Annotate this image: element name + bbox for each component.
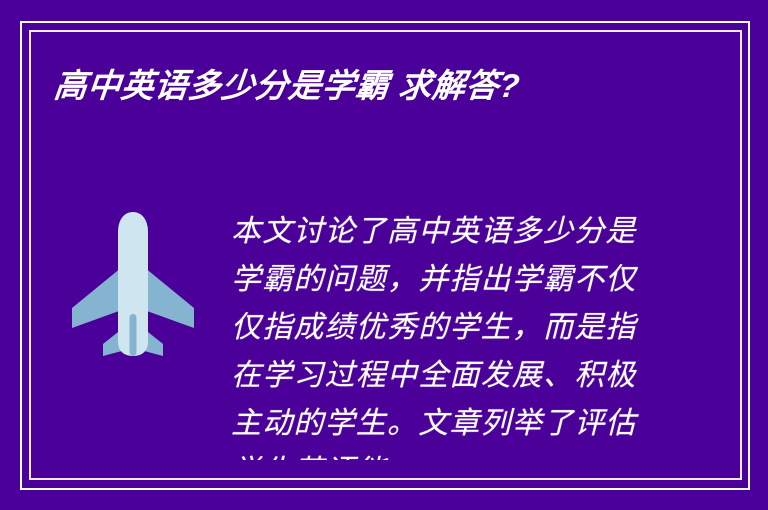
airplane-icon <box>68 210 198 358</box>
article-paragraph: 本文讨论了高中英语多少分是学霸的问题，并指出学霸不仅仅指成绩优秀的学生，而是指在… <box>231 208 643 460</box>
article-body: 本文讨论了高中英语多少分是学霸的问题，并指出学霸不仅仅指成绩优秀的学生，而是指在… <box>231 208 643 460</box>
page-title: 高中英语多少分是学霸 求解答? <box>51 62 716 110</box>
article-card: 高中英语多少分是学霸 求解答? 本文讨论了高中英语多少分是学霸的问题，并指出学霸… <box>0 0 768 510</box>
